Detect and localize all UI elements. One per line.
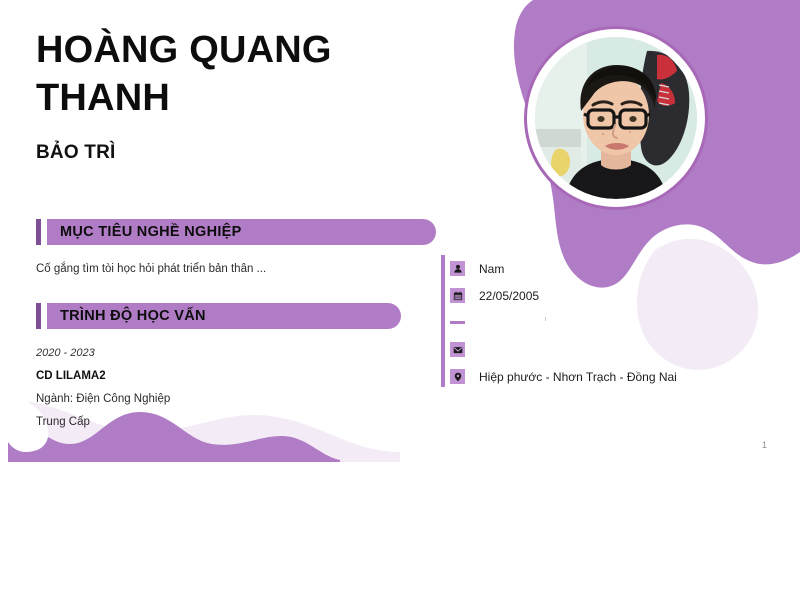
cv-page: HOÀNG QUANG THANH BẢO TRÌ (0, 0, 800, 462)
section-objective-body: Cố gắng tìm tòi học hỏi phát triển bản t… (36, 259, 456, 279)
contact-gender-value: Nam (479, 262, 504, 276)
section-education-title: TRÌNH ĐỘ HỌC VẤN (60, 308, 206, 324)
contact-address-value: Hiệp phước - Nhơn Trạch - Đồng Nai (479, 370, 677, 384)
contact-row-birthdate: 22/05/2005 (441, 282, 771, 309)
render-artifact (545, 317, 546, 321)
avatar (527, 29, 705, 207)
education-level: Trung Cấp (36, 412, 456, 432)
contact-row-email (441, 336, 771, 363)
contact-panel: Nam 22/ (441, 255, 771, 390)
section-objective-title: MỤC TIÊU NGHỀ NGHIỆP (60, 224, 242, 240)
contact-row-gender: Nam (441, 255, 771, 282)
page-number: 1 (762, 440, 767, 450)
email-icon (450, 342, 465, 357)
contact-row-phone (441, 309, 771, 336)
job-title: BẢO TRÌ (36, 142, 466, 164)
phone-icon (450, 321, 465, 324)
profile-photo (535, 37, 697, 199)
section-accent-tick (36, 303, 41, 329)
section-accent-tick (36, 219, 41, 245)
education-entry: 2020 - 2023 CD LILAMA2 Ngành: Điện Công … (36, 343, 456, 432)
education-major: Ngành: Điện Công Nghiệp (36, 389, 456, 409)
person-icon (450, 261, 465, 276)
page-title: HOÀNG QUANG THANH (36, 26, 466, 122)
contact-row-address: Hiệp phước - Nhơn Trạch - Đồng Nai (441, 363, 771, 390)
contact-birthdate-value: 22/05/2005 (479, 289, 539, 303)
section-objective: MỤC TIÊU NGHỀ NGHIỆP Cố gắng tìm tòi học… (36, 219, 456, 279)
location-icon (450, 369, 465, 384)
education-school: CD LILAMA2 (36, 366, 456, 386)
section-objective-header: MỤC TIÊU NGHỀ NGHIỆP (36, 219, 456, 245)
education-dates: 2020 - 2023 (36, 343, 456, 363)
calendar-icon (450, 288, 465, 303)
section-education-header: TRÌNH ĐỘ HỌC VẤN (36, 303, 456, 329)
section-education: TRÌNH ĐỘ HỌC VẤN 2020 - 2023 CD LILAMA2 … (36, 303, 456, 435)
name-block: HOÀNG QUANG THANH BẢO TRÌ (36, 26, 466, 164)
